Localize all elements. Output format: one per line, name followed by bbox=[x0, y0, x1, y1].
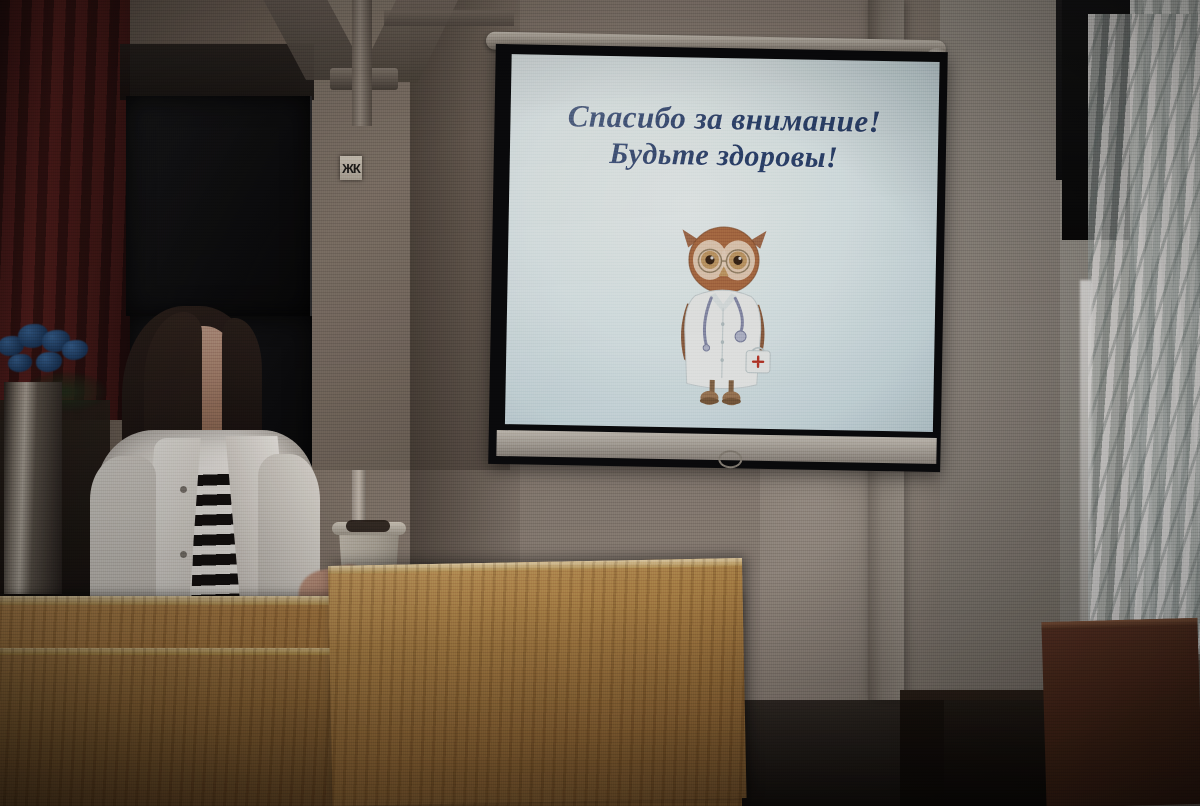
owl-doctor-illustration bbox=[661, 207, 785, 409]
floor-dark-area bbox=[740, 700, 1060, 806]
speaker-badge-label: ЖК bbox=[340, 156, 362, 180]
speaker-mount-bracket bbox=[120, 44, 314, 100]
lectern-left-grain bbox=[0, 648, 340, 806]
speaker-cabinet-upper: ЖК bbox=[126, 96, 312, 316]
wall-light-sheen bbox=[760, 430, 960, 710]
slide-text-block: Спасибо за внимание! Будьте здоровы! bbox=[510, 96, 939, 178]
photo-scene: ЖК Спасибо за внимание! Будьте здоровы! bbox=[0, 0, 1200, 806]
flower-vase bbox=[4, 382, 62, 594]
screen-pull-ring-icon[interactable] bbox=[718, 450, 742, 468]
lectern-left-extension bbox=[0, 648, 340, 806]
ceiling-beam bbox=[384, 10, 514, 26]
ceiling-rig-pole bbox=[352, 0, 372, 126]
lectern-front-panel bbox=[328, 558, 747, 806]
lace-curtain-edge-highlight bbox=[1080, 280, 1092, 660]
slide-headline-line1: Спасибо за внимание! bbox=[510, 96, 939, 142]
projection-screen-surface: Спасибо за внимание! Будьте здоровы! bbox=[505, 54, 940, 432]
lectern-front-grain bbox=[328, 558, 747, 806]
lace-curtain-inner bbox=[1088, 14, 1200, 654]
screen-weight-bar[interactable] bbox=[496, 430, 936, 464]
wooden-desk-right bbox=[1041, 618, 1200, 806]
projection-screen-frame[interactable]: Спасибо за внимание! Будьте здоровы! bbox=[488, 44, 948, 472]
